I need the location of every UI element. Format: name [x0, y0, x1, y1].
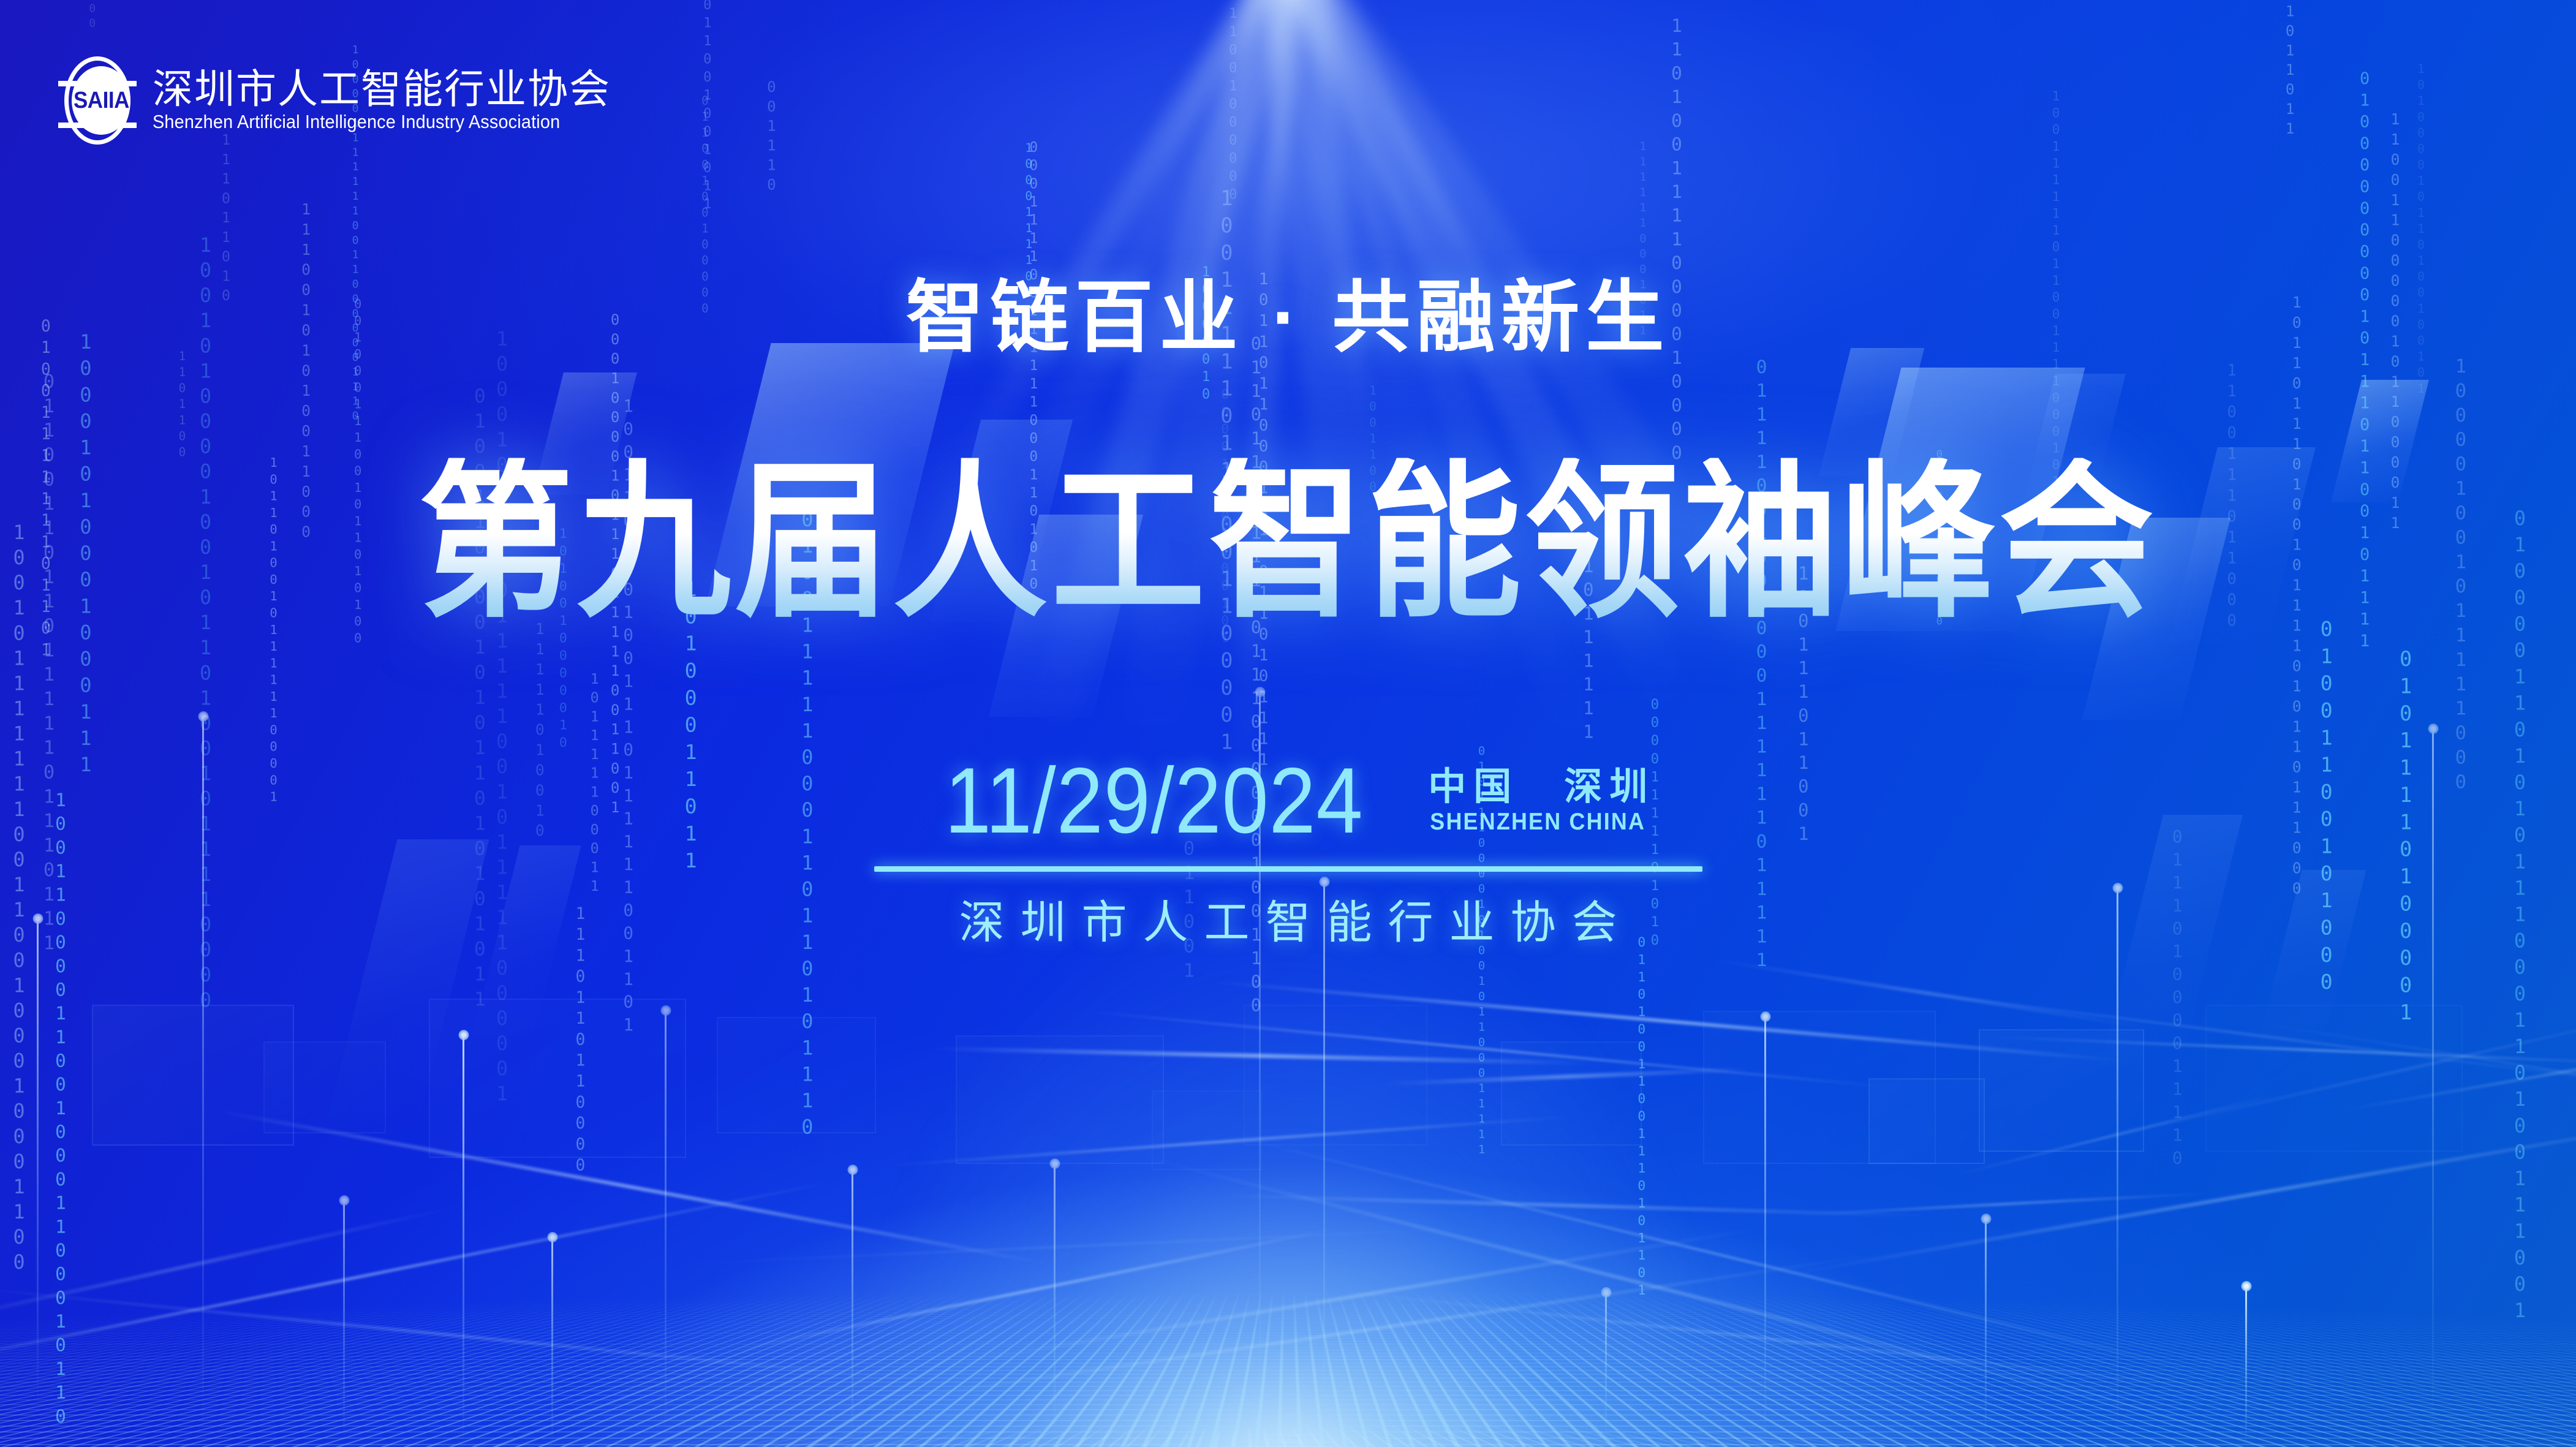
decor-parallelogram	[472, 845, 581, 1035]
binary-code-column: 1101001111000010000	[1666, 15, 1687, 466]
logo-wordmark: 深圳市人工智能行业协会 Shenzhen Artificial Intellig…	[153, 68, 611, 132]
circuit-block	[1501, 1041, 1642, 1146]
light-beam	[1985, 1219, 1987, 1446]
light-ray-layer	[0, 0, 2576, 1447]
event-meta-block: 11/29/2024 中国 深圳 SHENZHEN CHINA 深圳市人工智能行…	[872, 758, 1705, 947]
binary-code-layer: 0101111010000110010100001001011010010111…	[0, 0, 2576, 1447]
association-logo[interactable]: SAIIA 深圳市人工智能行业协会 Shenzhen Artificial In…	[58, 54, 611, 147]
circuit-block	[429, 999, 686, 1158]
data-streak	[1781, 1111, 2576, 1277]
light-beam	[463, 1035, 464, 1446]
data-streak	[1947, 1093, 2279, 1177]
binary-code-column: 101111100011	[586, 671, 603, 897]
circuit-block	[92, 1005, 294, 1146]
circuit-block-layer	[0, 0, 2576, 1447]
saiia-emblem-icon: SAIIA	[58, 54, 137, 147]
data-streak	[946, 1225, 1771, 1366]
light-beam	[202, 717, 204, 1440]
binary-code-column: 1111000	[86, 0, 99, 31]
binary-code-column: 110011001000000	[1225, 0, 1241, 205]
data-streak	[1707, 957, 2147, 1029]
binary-code-column: 11111010010	[531, 620, 549, 842]
light-beam	[1764, 1017, 1766, 1446]
page-title: 第九届人工智能领袖峰会	[0, 458, 2576, 627]
data-streak	[638, 1226, 1501, 1266]
data-streak	[928, 1046, 1591, 1065]
light-beam	[37, 919, 39, 1409]
data-streak	[2338, 999, 2576, 1112]
binary-code-column: 001110	[763, 78, 780, 195]
circuit-block	[2205, 1005, 2463, 1152]
data-streak-layer	[0, 0, 2576, 1447]
light-ray	[1232, 0, 1299, 805]
organizer-name: 深圳市人工智能行业协会	[872, 897, 1705, 947]
light-beam	[551, 1237, 553, 1446]
light-ray	[1115, 0, 1319, 760]
light-ray	[945, 0, 1301, 483]
light-beam	[665, 1011, 667, 1446]
event-location: 中国 深圳 SHENZHEN CHINA	[1421, 766, 1655, 844]
binary-code-column: 01001100101000	[2314, 617, 2338, 997]
data-streak	[1383, 1067, 1749, 1086]
binary-code-column: 011001001011	[700, 0, 716, 214]
data-streak	[1212, 1193, 1936, 1218]
circuit-block	[1244, 1005, 1427, 1146]
binary-code-column: 1101100	[175, 349, 189, 461]
binary-code-column: 011010011001110101101	[1634, 935, 1649, 1300]
decor-parallelogram	[2101, 815, 2243, 1066]
light-beam	[1323, 882, 1325, 1446]
divider-rule	[874, 866, 1702, 872]
logo-disc-shape: SAIIA	[72, 66, 130, 135]
location-cn: 中国 深圳	[1421, 766, 1655, 808]
parallelogram-decor-layer	[0, 0, 2576, 1447]
data-streak	[1983, 1035, 2576, 1065]
data-streak	[1223, 1133, 2233, 1380]
data-streak	[2073, 988, 2576, 1147]
logo-mark-label: SAIIA	[74, 88, 129, 114]
data-streak	[1312, 1287, 2226, 1391]
data-streak	[1139, 1154, 2165, 1417]
circuit-block	[956, 1035, 1164, 1164]
binary-code-column: 1110110110000	[571, 905, 589, 1177]
binary-code-column: 0000100010100100101100000000001	[2569, 244, 2576, 1062]
data-streak	[717, 1226, 1340, 1355]
data-streak	[1809, 977, 2576, 1090]
date-location-row: 11/29/2024 中国 深圳 SHENZHEN CHINA	[872, 758, 1705, 844]
association-name-cn: 深圳市人工智能行业协会	[153, 68, 611, 110]
light-beam-layer	[0, 0, 2576, 1447]
light-beam	[2432, 729, 2434, 1446]
data-streak	[0, 1286, 922, 1382]
decor-parallelogram	[325, 839, 489, 1127]
light-beam	[852, 1170, 853, 1446]
binary-code-column: 011101000011110	[2167, 826, 2188, 1171]
light-beam	[1054, 1164, 1056, 1446]
binary-code-column: 01011110100001	[2394, 647, 2418, 1027]
data-streak	[0, 1205, 458, 1328]
circuit-block	[1868, 1078, 1985, 1164]
data-streak	[1204, 979, 2131, 1063]
data-streak	[1794, 1192, 2215, 1216]
center-glow-burst	[829, 860, 1748, 1447]
data-streak	[856, 1250, 1896, 1406]
circuit-block	[1152, 1090, 1262, 1170]
circuit-block	[1703, 1011, 1936, 1164]
light-beam	[2245, 1286, 2247, 1446]
perspective-dot-grid-secondary	[0, 1396, 2576, 1447]
binary-code-column: 1000101010011111001011111000001	[491, 328, 513, 1108]
circuit-block	[263, 1041, 386, 1133]
circuit-block	[717, 1017, 876, 1133]
data-streak	[1072, 1009, 1900, 1089]
binary-code-column: 011011011	[2281, 0, 2298, 139]
tech-grid-layer	[0, 0, 2576, 1447]
association-name-en: Shenzhen Artificial Intelligence Industr…	[153, 111, 579, 133]
light-beam	[2117, 888, 2118, 1446]
location-en: SHENZHEN CHINA	[1430, 808, 1645, 837]
data-streak	[880, 1116, 1575, 1168]
binary-code-column: 100101111111001100100010001100	[8, 522, 30, 1277]
light-beam	[343, 1201, 345, 1446]
light-beam	[1605, 1293, 1607, 1446]
data-streak	[210, 1108, 1054, 1267]
circuit-block	[1979, 1029, 2144, 1152]
data-streak	[0, 1180, 837, 1378]
event-date: 11/29/2024	[945, 758, 1364, 844]
light-ray	[1268, 0, 1607, 776]
binary-code-column: 100110000110010001100010110	[50, 790, 71, 1429]
event-tagline: 智链百业 · 共融新生	[0, 279, 2576, 357]
data-streak	[2255, 1022, 2576, 1129]
decor-parallelogram	[2256, 870, 2366, 1054]
event-poster: 0101111010000110010100001001011010010111…	[0, 0, 2576, 1447]
perspective-dot-grid	[0, 1271, 2576, 1447]
binary-code-column: 0100001101010111000110100111001	[2508, 507, 2531, 1325]
